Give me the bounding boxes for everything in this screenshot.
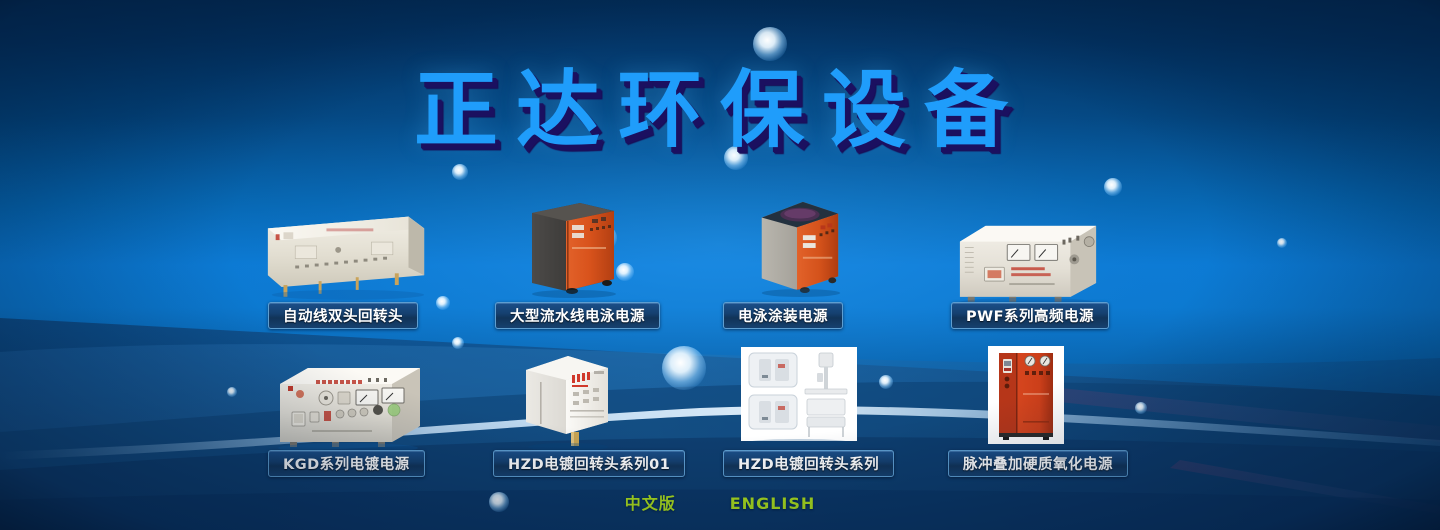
- product-image-p7[interactable]: [739, 345, 859, 445]
- product-grid: 自动线双头回转头 大型流水线电: [0, 0, 1440, 530]
- product-image-p2[interactable]: [522, 195, 624, 295]
- product-label-p3[interactable]: 电泳涂装电源: [723, 302, 843, 329]
- product-label-p7[interactable]: HZD电镀回转头系列: [723, 450, 894, 477]
- language-bar: 中文版ENGLISH: [0, 490, 1440, 514]
- product-label-p8[interactable]: 脉冲叠加硬质氧化电源: [948, 450, 1128, 477]
- product-image-p6[interactable]: [516, 348, 620, 448]
- language-link-zh[interactable]: 中文版: [625, 490, 676, 514]
- product-image-p4[interactable]: [952, 212, 1102, 295]
- product-label-p5[interactable]: KGD系列电镀电源: [268, 450, 425, 477]
- product-image-p3[interactable]: [748, 196, 848, 295]
- product-label-p4[interactable]: PWF系列高频电源: [951, 302, 1109, 329]
- product-label-p2[interactable]: 大型流水线电泳电源: [495, 302, 660, 329]
- language-link-en[interactable]: ENGLISH: [730, 494, 816, 513]
- product-label-p6[interactable]: HZD电镀回转头系列01: [493, 450, 685, 477]
- product-image-p5[interactable]: [272, 356, 424, 444]
- product-image-p1[interactable]: [262, 203, 430, 298]
- banner-stage: 正达环保设备: [0, 0, 1440, 530]
- product-label-p1[interactable]: 自动线双头回转头: [268, 302, 418, 329]
- product-image-p8[interactable]: [987, 345, 1065, 445]
